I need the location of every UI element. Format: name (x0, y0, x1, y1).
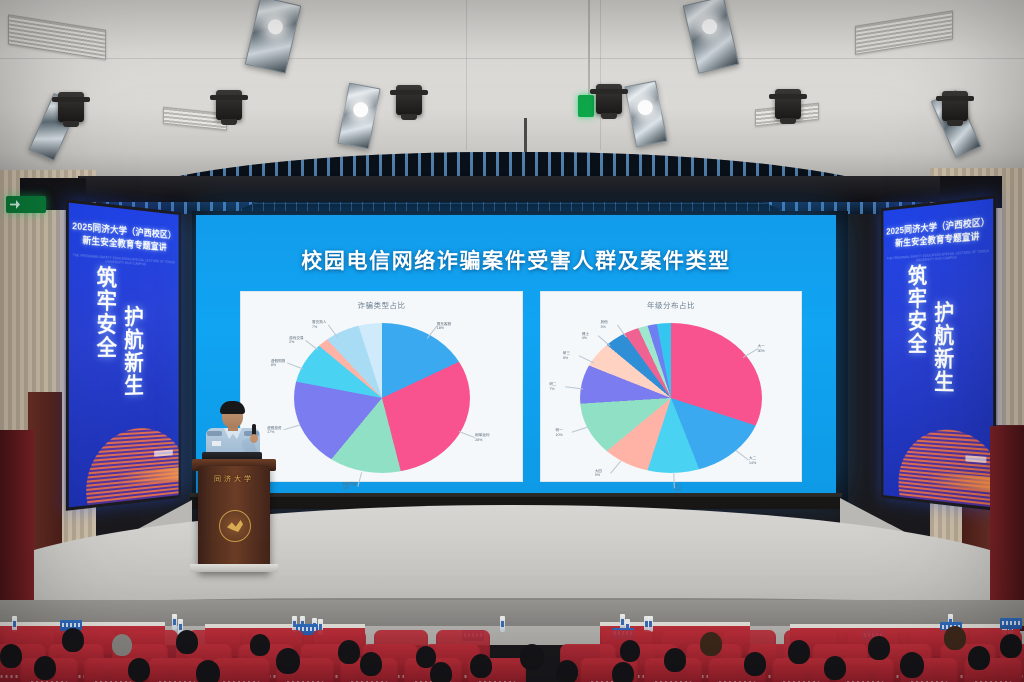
stage-spotlight (216, 90, 242, 120)
podium: 同济大学 (198, 466, 270, 572)
pie-slice-label: 研一10% (556, 428, 563, 437)
audience-person-head (520, 644, 544, 670)
pie-slice-label: 刷单返利28% (475, 433, 489, 442)
pie-slice-label: 大一30% (758, 344, 765, 353)
audience-person-head (196, 660, 220, 682)
drop-rod (588, 0, 590, 96)
pie-label-text: 虚假投资 (267, 426, 281, 430)
audience-person-head (664, 648, 686, 672)
side-led-banner-right: 2025同济大学（沪西校区） 新生安全教育专题宣讲 THE FRESHMAN S… (881, 195, 996, 511)
pie-label-text: 网络贷款 (342, 482, 356, 486)
pie-slice-label: 虚假购物8% (271, 359, 285, 368)
audience-person-head (360, 652, 382, 676)
stage-spotlight (58, 92, 84, 122)
ceiling-light (337, 83, 380, 150)
speaker-hand (250, 434, 258, 443)
banner-vertical-left: 筑牢安全 (94, 265, 117, 359)
pie-label-text: 大二 (749, 456, 756, 460)
pie-label-pct: 8% (271, 363, 285, 367)
audience-person-head (1000, 634, 1022, 658)
audience-person-head (276, 648, 300, 674)
banner-vertical-left: 筑牢安全 (905, 264, 927, 355)
pie-label-pct: 30% (758, 349, 765, 353)
ceiling-seam (466, 0, 467, 150)
chart-title-left: 诈骗类型占比 (241, 300, 522, 311)
pie-label-text: 虚假购物 (271, 359, 285, 363)
stage-spotlight (942, 91, 968, 121)
audience-person-head (34, 656, 56, 680)
pie-leader-line (743, 348, 758, 357)
pie-label-text: 研三 (563, 351, 570, 355)
pie-slice-label: 虚假投资17% (267, 426, 281, 435)
pie-label-pct: 18% (437, 326, 451, 330)
exit-sign (6, 196, 46, 213)
pie-wrapper-right: 大一30%大二14%大三11%大四9%研一10%研二7%研三5%博士4%其他3% (541, 312, 801, 477)
side-led-banner-left: 2025同济大学（沪西校区） 新生安全教育专题宣讲 THE FRESHMAN S… (66, 199, 181, 511)
pie-label-pct: 17% (267, 430, 281, 434)
banner-orb-graphic (898, 427, 996, 511)
name-placard (1000, 618, 1022, 629)
pie-leader-line (571, 427, 588, 433)
pie-label-pct: 3% (601, 325, 608, 329)
pie-label-pct: 5% (563, 356, 570, 360)
ceiling-light (245, 0, 302, 74)
pie-slice-label: 冒充熟人7% (312, 320, 326, 329)
pie-label-pct: 28% (475, 438, 489, 442)
auditorium-photo: 2025同济大学（沪西校区） 新生安全教育专题宣讲 THE FRESHMAN S… (0, 0, 1024, 682)
audience-person-head (788, 640, 810, 664)
chart-panel-left: 诈骗类型占比 冒充客服18%刷单返利28%网络贷款15%虚假投资17%虚假购物8… (240, 291, 523, 482)
podium-institution-text: 同济大学 (198, 474, 270, 484)
pie-label-pct: 2% (289, 340, 303, 344)
audience-person-head (430, 662, 452, 682)
pie-slice-label: 游戏交易2% (289, 336, 303, 345)
audience-person-head (128, 658, 150, 682)
podium-base (190, 564, 278, 572)
pie-slice-label: 大二14% (749, 456, 756, 465)
pie-leader-line (598, 336, 611, 347)
banner-headline: 2025同济大学（沪西校区） 新生安全教育专题宣讲 (69, 219, 179, 255)
audience-person-head (744, 652, 766, 676)
speaker-badge (212, 441, 221, 446)
audience-person-head (824, 656, 846, 680)
pie-label-pct: 14% (749, 461, 756, 465)
audience-person-head (556, 660, 578, 682)
pie-label-text: 大三 (674, 484, 681, 488)
audience-person-head (338, 640, 360, 664)
audience-person-head (944, 626, 966, 650)
pie-slice-label: 冒充客服18% (437, 322, 451, 331)
audience-person-head (868, 636, 890, 660)
pie-slice-label: 研二7% (549, 382, 556, 391)
banner-subline: THE FRESHMAN SAFETY EDUCATION SPECIAL LE… (69, 253, 179, 269)
ceiling-light (624, 81, 667, 148)
pie-chart-fraud-types (294, 323, 470, 473)
table-surface (0, 622, 165, 626)
ceiling-seam (600, 0, 601, 150)
speaker-hair (220, 401, 245, 414)
pie-label-text: 冒充客服 (437, 322, 451, 326)
banner-vertical-right: 护航新生 (932, 300, 955, 393)
audience-person-head (112, 634, 132, 656)
audience-person-head (620, 640, 640, 662)
pie-label-text: 大一 (758, 344, 765, 348)
water-bottle (500, 616, 505, 632)
main-led-screen: 校园电信网络诈骗案件受害人群及案件类型 诈骗类型占比 冒充客服18%刷单返利28… (196, 215, 836, 493)
slide-title: 校园电信网络诈骗案件受害人群及案件类型 (196, 245, 836, 275)
audience-person-head (0, 644, 22, 668)
pie-slice-label: 大三11% (674, 484, 681, 493)
water-bottle (172, 614, 177, 630)
audience-person-head (968, 646, 990, 670)
audience-chair (212, 658, 270, 682)
table-surface (790, 624, 1020, 628)
pie-label-text: 游戏交易 (289, 336, 303, 340)
pie-leader-line (283, 425, 300, 430)
pie-label-pct: 4% (582, 336, 589, 340)
pie-leader-line (305, 340, 318, 350)
chart-panel-right: 年级分布占比 大一30%大二14%大三11%大四9%研一10%研二7%研三5%博… (540, 291, 802, 482)
pie-label-text: 冒充熟人 (312, 320, 326, 324)
audience-person-head (176, 630, 198, 654)
pie-label-text: 研一 (556, 428, 563, 432)
pie-label-text: 大四 (595, 469, 602, 473)
audience-person-head (700, 632, 722, 656)
pie-slice-label: 大四9% (595, 469, 602, 478)
pie-label-pct: 15% (342, 486, 356, 490)
table-surface (205, 624, 365, 628)
pie-wrapper-left: 冒充客服18%刷单返利28%网络贷款15%虚假投资17%虚假购物8%游戏交易2%… (241, 312, 522, 477)
pie-slice-label: 网络贷款15% (342, 482, 356, 491)
pie-leader-line (459, 431, 475, 438)
emergency-exit-light (578, 95, 594, 117)
pie-label-text: 其他 (601, 320, 608, 324)
pie-leader-line (736, 450, 749, 460)
stage-spotlight (596, 84, 622, 114)
audience-person-head (250, 634, 270, 656)
pie-leader-line (674, 474, 675, 489)
pie-leader-line (358, 472, 362, 486)
pie-label-text: 研二 (549, 382, 556, 386)
pie-label-pct: 7% (549, 387, 556, 391)
pie-label-text: 博士 (582, 332, 589, 336)
stage-spotlight (396, 85, 422, 115)
pie-label-text: 刷单返利 (475, 433, 489, 437)
audience-person-head (470, 654, 492, 678)
ceiling-seam (0, 58, 1024, 59)
stage-spotlight (775, 89, 801, 119)
audience-person-head (612, 662, 634, 682)
hvac-vent (855, 10, 953, 55)
banner-subline: THE FRESHMAN SAFETY EDUCATION SPECIAL LE… (883, 249, 993, 265)
speaker-epaulette-left (207, 431, 222, 436)
pie-slice-label: 博士4% (582, 332, 589, 341)
chart-title-right: 年级分布占比 (541, 300, 801, 311)
ceiling-light (683, 0, 740, 74)
hvac-vent (8, 14, 106, 60)
pie-leader-line (611, 461, 621, 473)
pie-slice-label: 其他3% (601, 320, 608, 329)
pie-label-pct: 10% (556, 433, 563, 437)
audience-area (0, 600, 1024, 682)
banner-headline: 2025同济大学（沪西校区） 新生安全教育专题宣讲 (883, 215, 993, 251)
pie-label-pct: 9% (595, 473, 602, 477)
audience-person-head (900, 652, 924, 678)
pie-slice-label: 研三5% (563, 351, 570, 360)
pie-label-pct: 7% (312, 325, 326, 329)
university-emblem-icon (219, 510, 251, 542)
banner-vertical-right: 护航新生 (121, 305, 143, 397)
stage-soffit (78, 176, 948, 202)
audience-person-head (62, 628, 84, 652)
